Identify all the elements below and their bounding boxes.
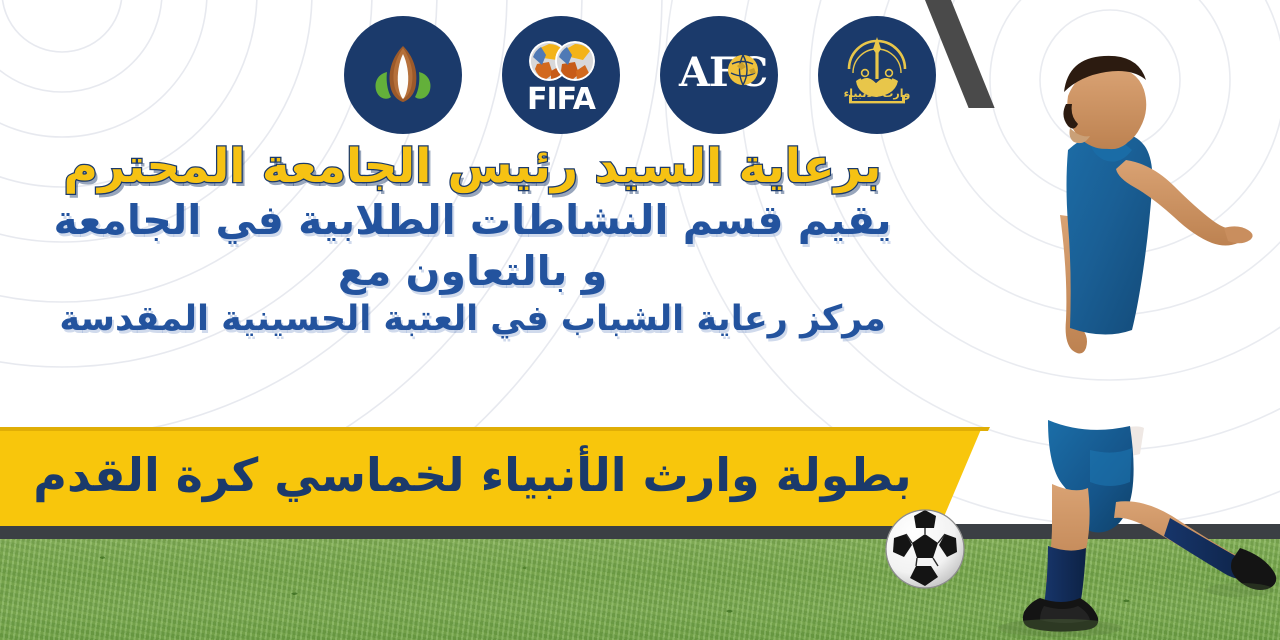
- headline-text-block: برعاية السيد رئيس الجامعة المحترم يقيم ق…: [0, 142, 945, 338]
- banner-title-text: بطولة وارث الأنبياء لخماسي كرة القدم: [0, 427, 945, 526]
- svg-text:وارث الأنبياء: وارث الأنبياء: [844, 86, 911, 100]
- headline-line-2: يقيم قسم النشاطات الطلابية في الجامعة: [0, 199, 945, 242]
- headline-line-4: مركز رعاية الشباب في العتبة الحسينية الم…: [0, 301, 945, 338]
- football-player-photo: [940, 0, 1280, 640]
- fifa-logo: FIFA: [502, 16, 620, 134]
- headline-line-3: و بالتعاون مع: [0, 250, 945, 293]
- tournament-poster: FIFA AFC: [0, 0, 1280, 640]
- svg-text:FIFA: FIFA: [527, 82, 597, 117]
- headline-line-1: برعاية السيد رئيس الجامعة المحترم: [0, 142, 945, 191]
- tournament-title-banner: بطولة وارث الأنبياء لخماسي كرة القدم: [0, 427, 1000, 526]
- iraq-football-association-logo: [344, 16, 462, 134]
- warith-al-anbiyaa-university-logo: وارث الأنبياء: [818, 16, 936, 134]
- afc-logo: AFC: [660, 16, 778, 134]
